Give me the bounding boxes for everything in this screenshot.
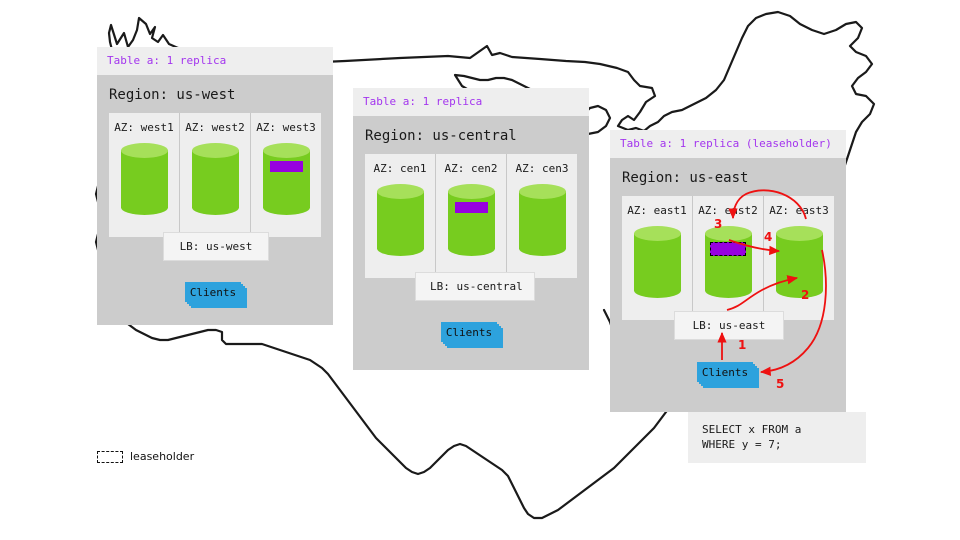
- legend-label: leaseholder: [130, 450, 194, 463]
- az-label-east3: AZ: east3: [769, 204, 829, 217]
- az-cell-west3[interactable]: AZ: west3: [251, 113, 321, 237]
- az-label-east1: AZ: east1: [627, 204, 687, 217]
- node-cylinder-cen3[interactable]: [519, 184, 566, 256]
- node-cylinder-east2[interactable]: [705, 226, 752, 298]
- cylinder-body: [776, 233, 823, 291]
- load-balancer-us-east[interactable]: LB: us-east: [674, 311, 784, 340]
- az-cell-west2[interactable]: AZ: west2: [180, 113, 251, 237]
- cylinder-body: [121, 150, 168, 208]
- cylinder-body: [519, 191, 566, 249]
- cylinder-top: [121, 143, 168, 158]
- cylinder-body: [263, 150, 310, 208]
- az-row-us-west: AZ: west1 AZ: west2 AZ: west3: [109, 113, 321, 237]
- cylinder-top: [634, 226, 681, 241]
- arrow-number-4: 4: [764, 230, 772, 244]
- leaseholder-replica-marker-east2: [710, 242, 746, 256]
- cylinder-body: [377, 191, 424, 249]
- diagram-stage: Table a: 1 replica Region: us-west AZ: w…: [0, 0, 960, 540]
- cylinder-top: [448, 184, 495, 199]
- az-cell-east3[interactable]: AZ: east3: [764, 196, 834, 320]
- region-label-us-west: Region: us-west: [97, 75, 333, 113]
- arrow-number-5: 5: [776, 377, 784, 391]
- az-cell-cen2[interactable]: AZ: cen2: [436, 154, 507, 278]
- az-label-west3: AZ: west3: [256, 121, 316, 134]
- region-label-us-central: Region: us-central: [353, 116, 589, 154]
- load-balancer-us-west[interactable]: LB: us-west: [163, 232, 269, 261]
- arrow-number-1: 1: [738, 338, 746, 352]
- arrow-number-3: 3: [714, 217, 722, 231]
- cylinder-top: [776, 226, 823, 241]
- replica-marker-cen2: [455, 202, 488, 213]
- cylinder-body: [448, 191, 495, 249]
- az-label-east2: AZ: east2: [698, 204, 758, 217]
- clients-label-us-west: Clients: [185, 282, 241, 302]
- sql-query-box: SELECT x FROM a WHERE y = 7;: [688, 412, 866, 463]
- table-replica-title-us-west: Table a: 1 replica: [97, 47, 333, 75]
- clients-label-us-east: Clients: [697, 362, 753, 382]
- table-replica-title-us-east: Table a: 1 replica (leaseholder): [610, 130, 846, 158]
- node-cylinder-west3[interactable]: [263, 143, 310, 215]
- cylinder-top: [192, 143, 239, 158]
- cylinder-top: [519, 184, 566, 199]
- az-cell-cen1[interactable]: AZ: cen1: [365, 154, 436, 278]
- node-cylinder-east3[interactable]: [776, 226, 823, 298]
- node-cylinder-west2[interactable]: [192, 143, 239, 215]
- az-cell-cen3[interactable]: AZ: cen3: [507, 154, 577, 278]
- az-cell-east1[interactable]: AZ: east1: [622, 196, 693, 320]
- az-label-cen1: AZ: cen1: [374, 162, 427, 175]
- load-balancer-us-central[interactable]: LB: us-central: [415, 272, 535, 301]
- legend: leaseholder: [97, 450, 194, 463]
- clients-us-east[interactable]: Clients: [697, 362, 759, 386]
- node-cylinder-cen1[interactable]: [377, 184, 424, 256]
- clients-us-central[interactable]: Clients: [441, 322, 503, 346]
- az-label-cen2: AZ: cen2: [445, 162, 498, 175]
- node-cylinder-east1[interactable]: [634, 226, 681, 298]
- az-cell-west1[interactable]: AZ: west1: [109, 113, 180, 237]
- cylinder-top: [263, 143, 310, 158]
- cylinder-body: [634, 233, 681, 291]
- az-label-cen3: AZ: cen3: [516, 162, 569, 175]
- clients-label-us-central: Clients: [441, 322, 497, 342]
- leaseholder-dashed-icon: [97, 451, 123, 463]
- az-label-west1: AZ: west1: [114, 121, 174, 134]
- az-cell-east2[interactable]: AZ: east2: [693, 196, 764, 320]
- az-label-west2: AZ: west2: [185, 121, 245, 134]
- clients-us-west[interactable]: Clients: [185, 282, 247, 306]
- region-label-us-east: Region: us-east: [610, 158, 846, 196]
- cylinder-top: [377, 184, 424, 199]
- cylinder-top: [705, 226, 752, 241]
- node-cylinder-cen2[interactable]: [448, 184, 495, 256]
- az-row-us-central: AZ: cen1 AZ: cen2 AZ: cen3: [365, 154, 577, 278]
- replica-marker-west3: [270, 161, 303, 172]
- arrow-number-2: 2: [801, 288, 809, 302]
- node-cylinder-west1[interactable]: [121, 143, 168, 215]
- cylinder-body: [192, 150, 239, 208]
- table-replica-title-us-central: Table a: 1 replica: [353, 88, 589, 116]
